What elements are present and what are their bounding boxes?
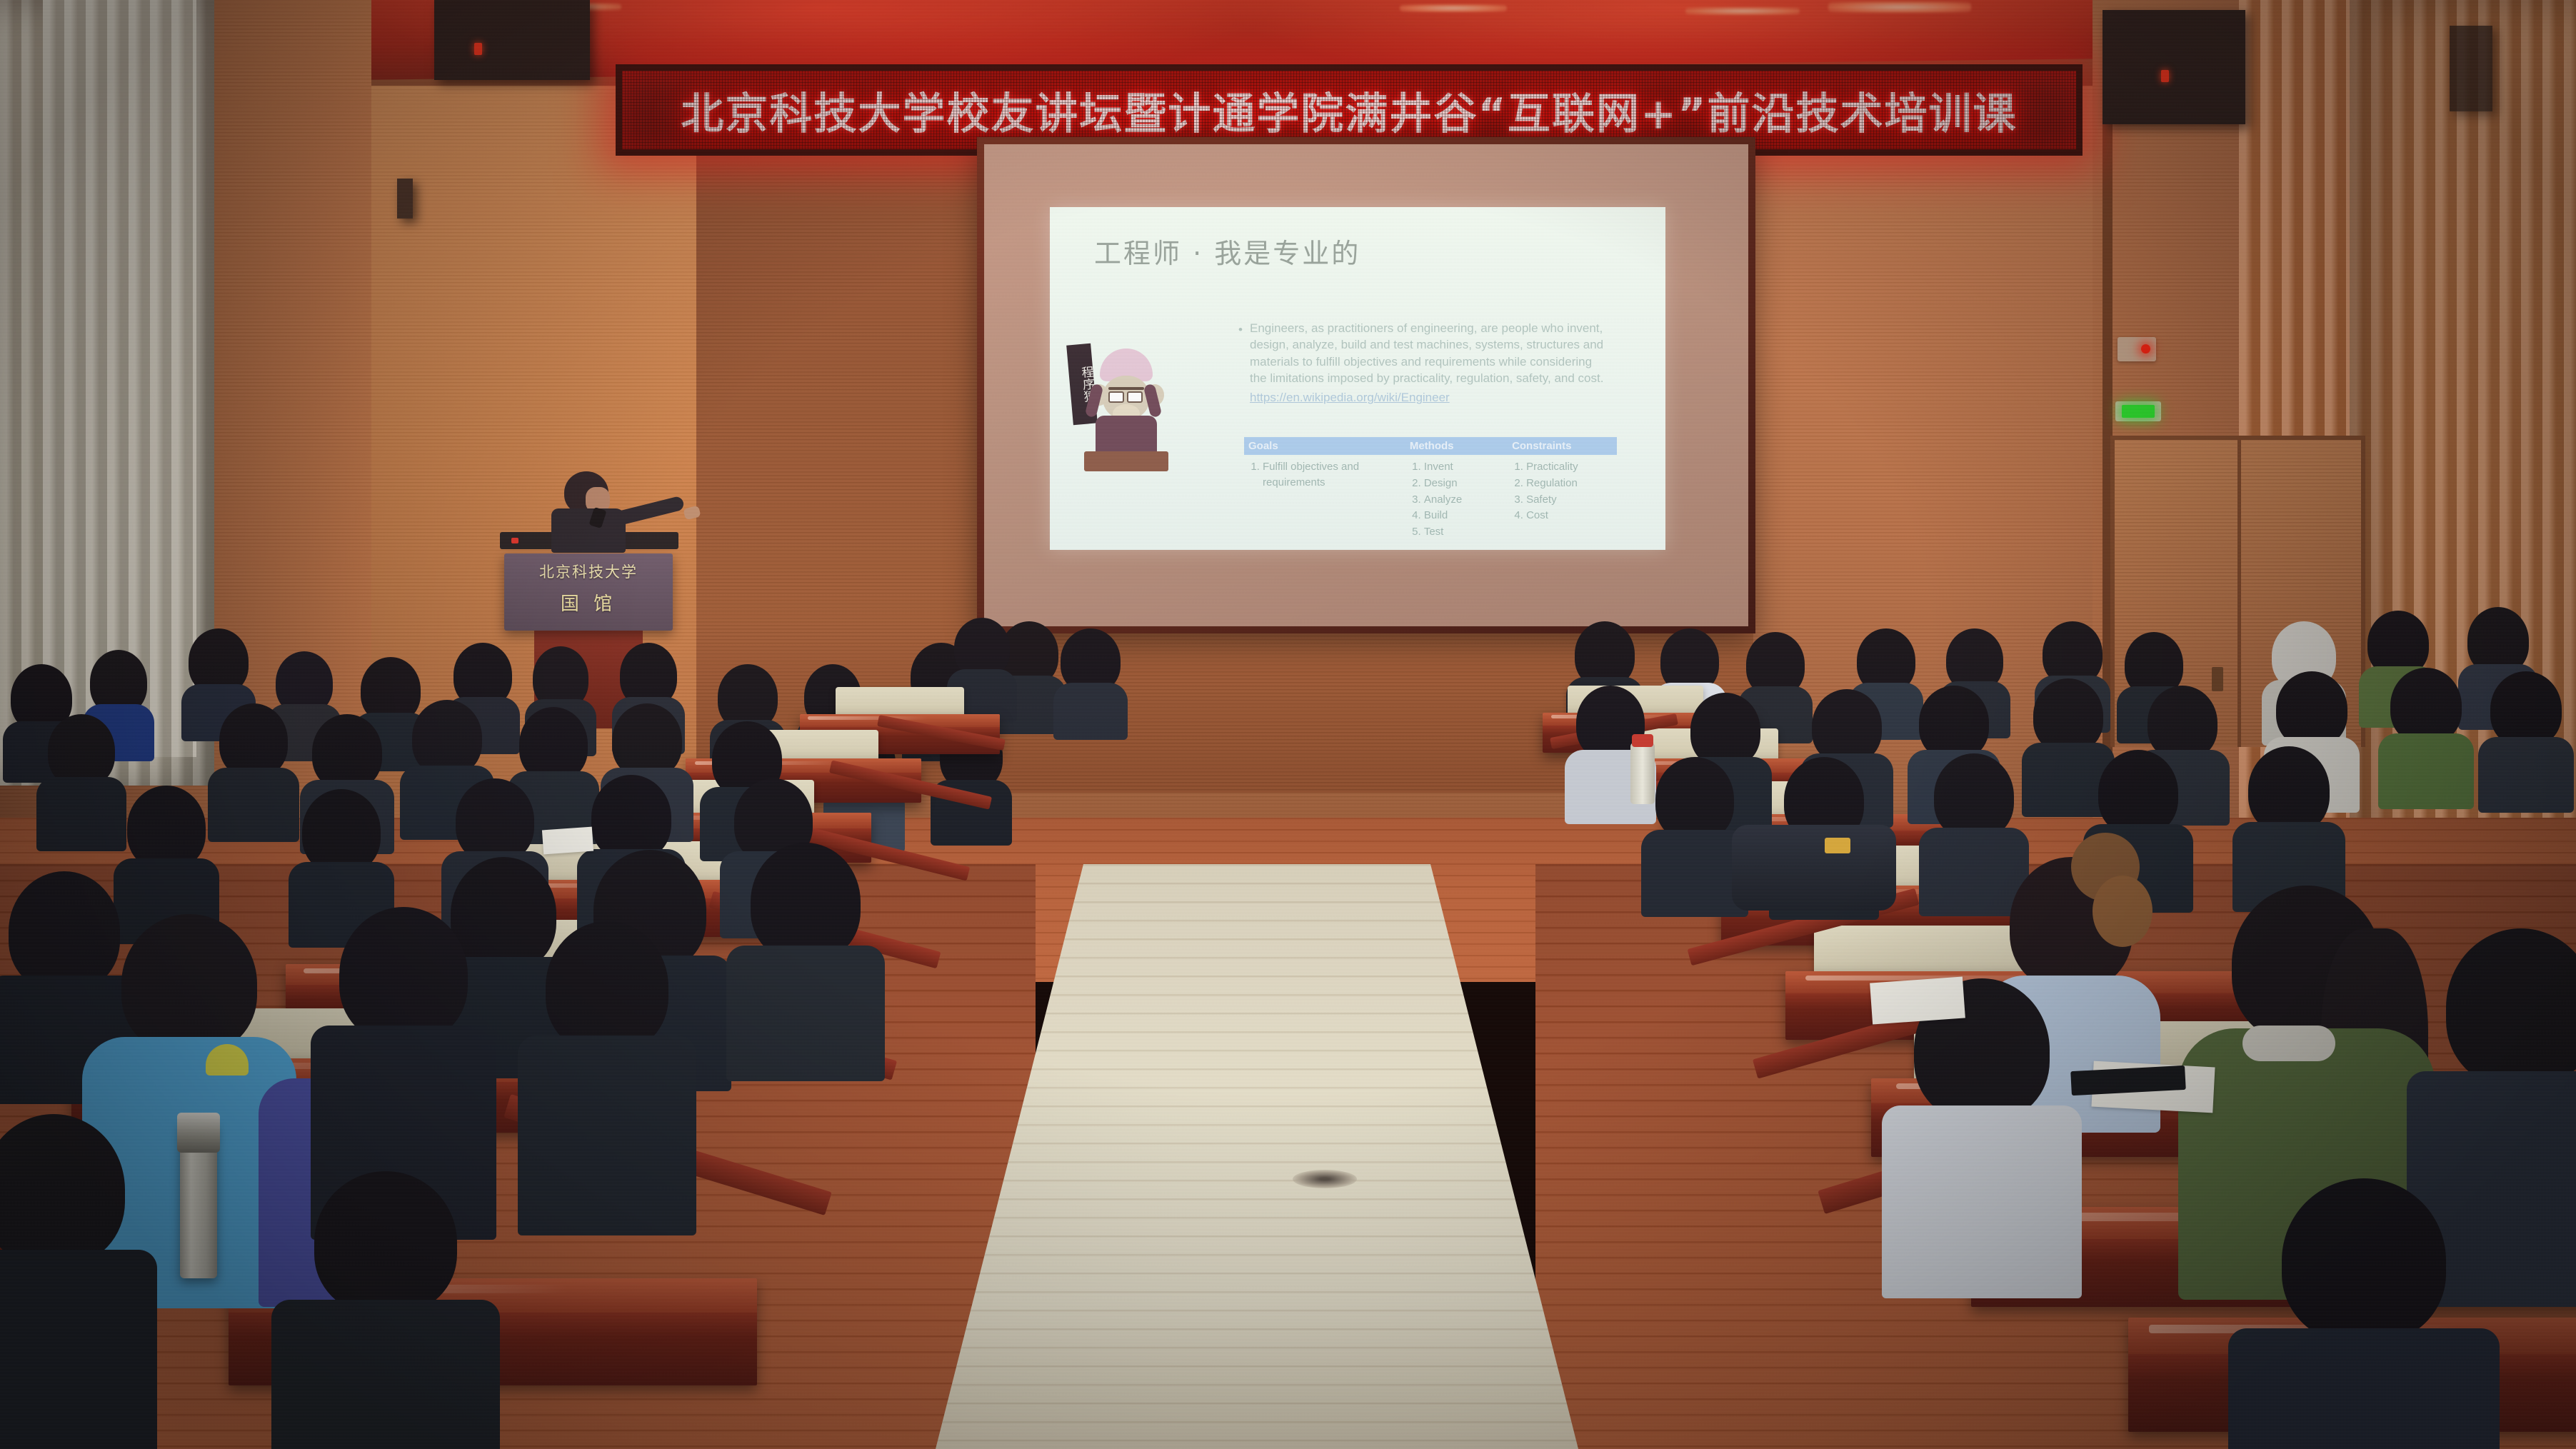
- audience-member: [2385, 668, 2467, 803]
- head: [121, 914, 257, 1054]
- projection-screen: 工程师 · 我是专业的 • Engineers, as practitioner…: [977, 137, 1755, 633]
- list-item: Safety: [1526, 492, 1613, 508]
- curtain-left-inner: [43, 0, 196, 757]
- body: [1882, 1105, 2082, 1298]
- constraints-list: Practicality Regulation Safety Cost: [1512, 459, 1613, 523]
- head: [2446, 928, 2576, 1087]
- body: [0, 1250, 157, 1449]
- body: [518, 1036, 696, 1235]
- head: [2033, 678, 2103, 753]
- audience-member: [743, 843, 868, 1071]
- body: [36, 777, 126, 851]
- head: [339, 907, 468, 1043]
- audience-member: [2485, 671, 2567, 807]
- hair-tail: [2093, 876, 2152, 947]
- speaker-led-icon: [474, 43, 482, 55]
- podium-led-icon: [511, 538, 518, 543]
- head: [219, 703, 288, 778]
- list-item: Analyze: [1424, 492, 1503, 508]
- slide-table-col-constraints: Practicality Regulation Safety Cost: [1508, 455, 1617, 545]
- head: [751, 843, 861, 961]
- list-item: Invent: [1424, 459, 1503, 475]
- list-item: Cost: [1526, 508, 1613, 523]
- head: [2276, 671, 2347, 747]
- slide-table-col-methods: Invent Design Analyze Build Test: [1405, 455, 1508, 545]
- head: [2147, 686, 2217, 760]
- body: [208, 768, 299, 842]
- head: [2282, 1178, 2446, 1343]
- list-item: Fulfill objectives and requirements: [1263, 459, 1401, 491]
- ceiling-loudspeaker-left: [434, 0, 590, 80]
- slide-table: Goals Methods Constraints Fulfill object…: [1244, 437, 1617, 545]
- backpack-on-desk[interactable]: [1732, 825, 1896, 911]
- slide-table-header-constraints: Constraints: [1508, 437, 1617, 455]
- head: [1934, 753, 2014, 839]
- lecture-hall-photo: 北京科技大学校友讲坛暨计通学院满井谷“互联网+”前沿技术培训课 工程师 · 我是…: [0, 0, 2576, 1449]
- audience-member: [2250, 1178, 2478, 1449]
- ceiling-light: [1685, 7, 1800, 15]
- led-banner-text: 北京科技大学校友讲坛暨计通学院满井谷“互联网+”前沿技术培训课: [681, 79, 2017, 141]
- head: [546, 921, 668, 1053]
- head: [1919, 686, 1989, 760]
- backpack-patch-icon: [1825, 838, 1850, 853]
- character-eye-left: [1108, 391, 1124, 403]
- slide-table-header-methods: Methods: [1405, 437, 1508, 455]
- goals-list: Fulfill objectives and requirements: [1248, 459, 1401, 491]
- alarm-red-led-icon: [2141, 344, 2150, 354]
- character-brow: [1108, 387, 1144, 390]
- presenter: [546, 471, 638, 550]
- head: [612, 703, 682, 778]
- thermos-cap[interactable]: [177, 1113, 220, 1153]
- audience-member: [1650, 757, 1740, 918]
- head: [1690, 693, 1760, 767]
- audience-member: [214, 703, 293, 839]
- audience-member: [536, 921, 678, 1221]
- ceiling-light: [1400, 4, 1507, 12]
- slide-table-header-row: Goals Methods Constraints: [1244, 437, 1617, 455]
- head: [1655, 757, 1734, 841]
- ceiling-loudspeaker-right: [2103, 10, 2245, 124]
- list-item: Test: [1424, 524, 1503, 540]
- head: [519, 707, 588, 781]
- audience-member: [1900, 978, 2064, 1285]
- slide-cartoon-programmer-ape: 程序猿: [1071, 347, 1157, 470]
- podium-venue-name: 国 馆: [504, 589, 673, 616]
- head: [591, 775, 671, 861]
- audience-member: [286, 1171, 486, 1449]
- character-eye-right: [1127, 391, 1143, 403]
- ceiling-loudspeaker-far-right: [2450, 26, 2492, 111]
- slide-bullet-text: • Engineers, as practitioners of enginee…: [1250, 320, 1607, 406]
- wall-bracket: [397, 179, 413, 219]
- ceiling-light: [1828, 1, 1971, 13]
- slide-source-link[interactable]: https://en.wikipedia.org/wiki/Engineer: [1250, 389, 1607, 406]
- door-center-split: [2237, 440, 2241, 747]
- head: [2490, 671, 2562, 747]
- list-item: Design: [1424, 476, 1503, 491]
- slide-title: 工程师 · 我是专业的: [1094, 231, 1360, 271]
- slide-table-header-goals: Goals: [1244, 437, 1405, 455]
- slide-table-col-goals: Fulfill objectives and requirements: [1244, 455, 1405, 545]
- floor-socket-icon: [1293, 1170, 1357, 1188]
- head: [412, 700, 482, 776]
- head: [1812, 689, 1882, 763]
- paper-sheet[interactable]: [542, 827, 593, 855]
- body: [2228, 1328, 2500, 1449]
- exit-green-glow-icon: [2122, 405, 2155, 418]
- body: [2378, 733, 2474, 809]
- head: [2248, 746, 2330, 833]
- bullet-dot-icon: •: [1238, 321, 1243, 338]
- character-desk: [1084, 451, 1168, 471]
- list-item: Build: [1424, 508, 1503, 523]
- audience-member: [1057, 628, 1124, 736]
- head: [312, 714, 382, 790]
- slide-bullet-body: Engineers, as practitioners of engineeri…: [1250, 321, 1603, 385]
- bottle-cap-icon[interactable]: [1632, 734, 1653, 747]
- head: [456, 778, 534, 863]
- presentation-slide: 工程师 · 我是专业的 • Engineers, as practitioner…: [1050, 207, 1665, 550]
- head: [127, 786, 206, 870]
- water-bottle[interactable]: [1630, 743, 1655, 804]
- methods-list: Invent Design Analyze Build Test: [1410, 459, 1503, 540]
- podium: 北京科技大学 国 馆: [504, 553, 673, 631]
- head: [314, 1171, 457, 1314]
- screen-surface: 工程师 · 我是专业的 • Engineers, as practitioner…: [984, 144, 1748, 626]
- desk-highlight: [808, 716, 928, 719]
- paper-sheet[interactable]: [1870, 977, 1965, 1025]
- body: [2478, 737, 2574, 813]
- body: [726, 946, 885, 1081]
- slide-table-body: Fulfill objectives and requirements Inve…: [1244, 455, 1617, 545]
- speaker-led-icon: [2161, 70, 2169, 82]
- list-item: Practicality: [1526, 459, 1613, 475]
- fire-alarm-indicator: [2118, 337, 2156, 361]
- head: [302, 789, 381, 873]
- list-item: Regulation: [1526, 476, 1613, 491]
- audience-member: [43, 714, 120, 850]
- podium-university-name: 北京科技大学: [504, 561, 673, 582]
- collar: [2242, 1026, 2335, 1061]
- head: [0, 1114, 125, 1265]
- head: [48, 714, 115, 787]
- audience-member: [0, 1114, 136, 1449]
- emergency-exit-sign: [2115, 401, 2161, 421]
- body: [1053, 683, 1128, 740]
- head: [2390, 668, 2462, 743]
- body: [271, 1300, 500, 1449]
- head: [2098, 750, 2178, 836]
